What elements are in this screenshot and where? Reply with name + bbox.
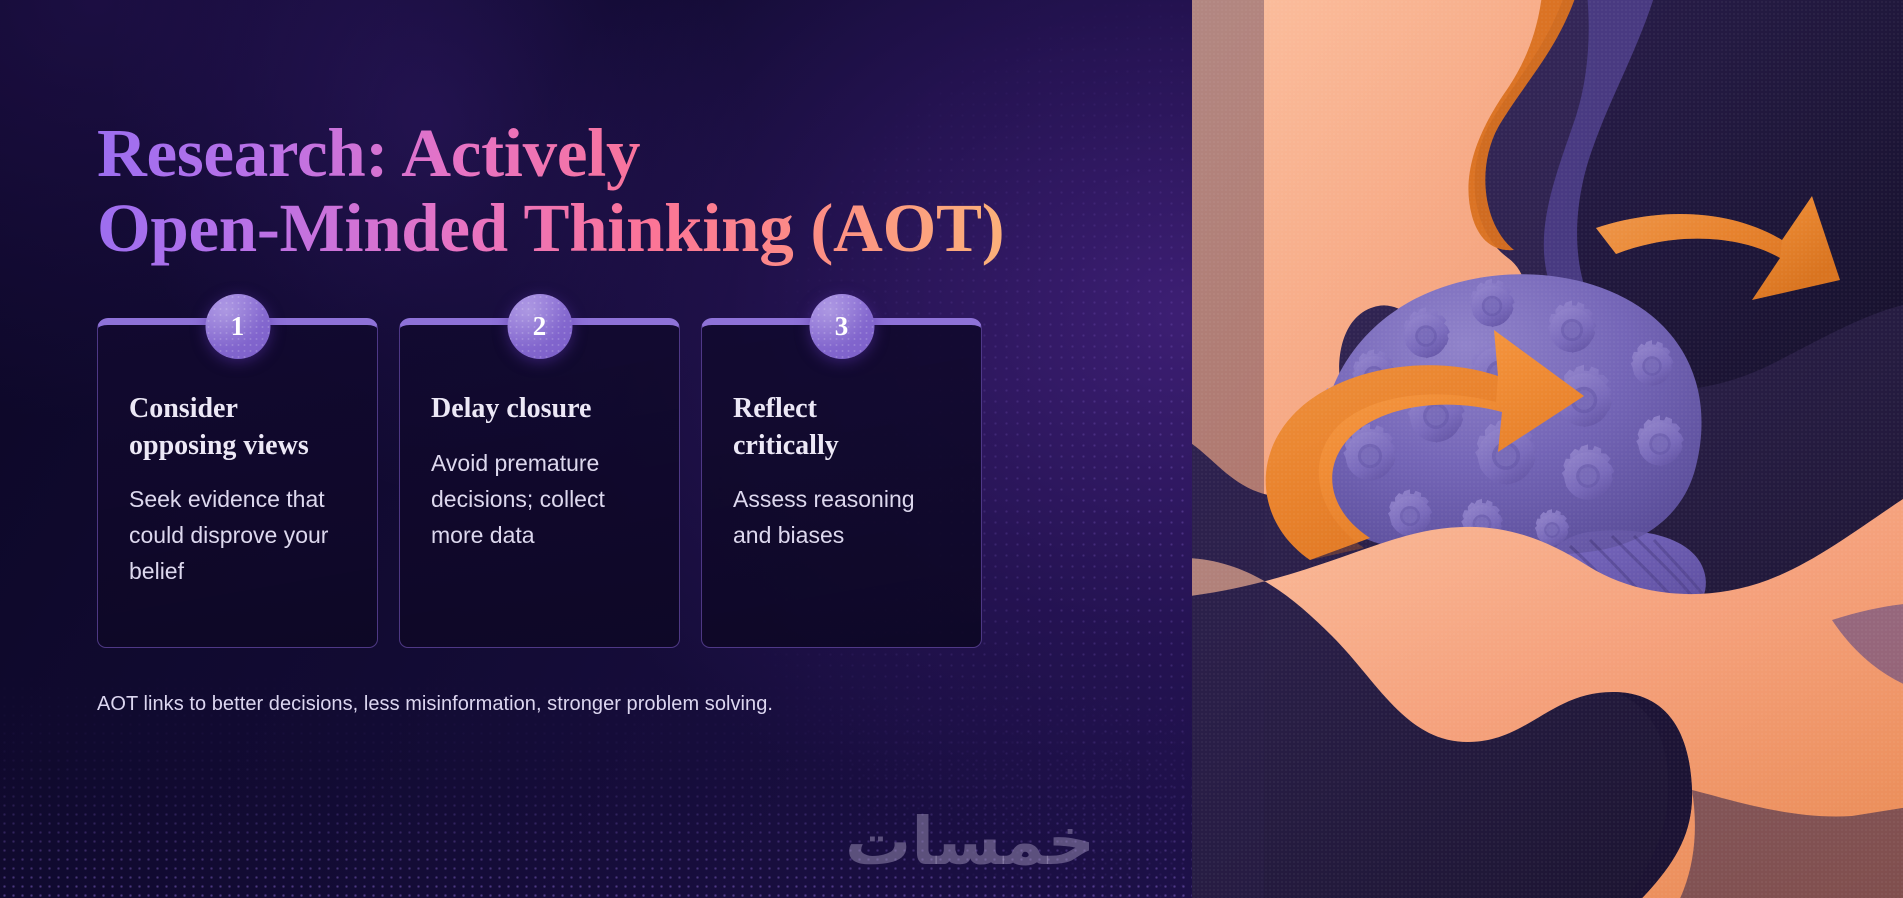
infographic-poster: Research: Actively Open-Minded Thinking … xyxy=(0,0,1903,898)
step-card-2: 2 Delay closure Avoid premature decision… xyxy=(399,318,680,648)
step-title-3: Reflect critically xyxy=(733,391,953,464)
step-card-3: 3 Reflect critically Assess reasoning an… xyxy=(701,318,982,648)
step-title-1: Consider opposing views xyxy=(129,391,349,464)
illustration-panel xyxy=(1192,0,1903,898)
step-number-badge-1: 1 xyxy=(205,294,270,359)
watermark-khamsat: خمسات xyxy=(845,803,1095,880)
steps-list: 1 Consider opposing views Seek evidence … xyxy=(97,318,1192,648)
step-card-1: 1 Consider opposing views Seek evidence … xyxy=(97,318,378,648)
step-number-badge-3: 3 xyxy=(809,294,874,359)
step-description-3: Assess reasoning and biases xyxy=(733,481,953,553)
step-description-2: Avoid premature decisions; collect more … xyxy=(431,445,651,553)
gear-brain-illustration xyxy=(1192,0,1903,898)
content-inner: Research: Actively Open-Minded Thinking … xyxy=(0,0,1192,718)
content-panel: Research: Actively Open-Minded Thinking … xyxy=(0,0,1192,898)
page-title: Research: Actively Open-Minded Thinking … xyxy=(97,116,1107,266)
step-title-2: Delay closure xyxy=(431,391,651,427)
step-number-badge-2: 2 xyxy=(507,294,572,359)
step-description-1: Seek evidence that could disprove your b… xyxy=(129,481,349,589)
footnote-text: AOT links to better decisions, less misi… xyxy=(97,690,1192,718)
